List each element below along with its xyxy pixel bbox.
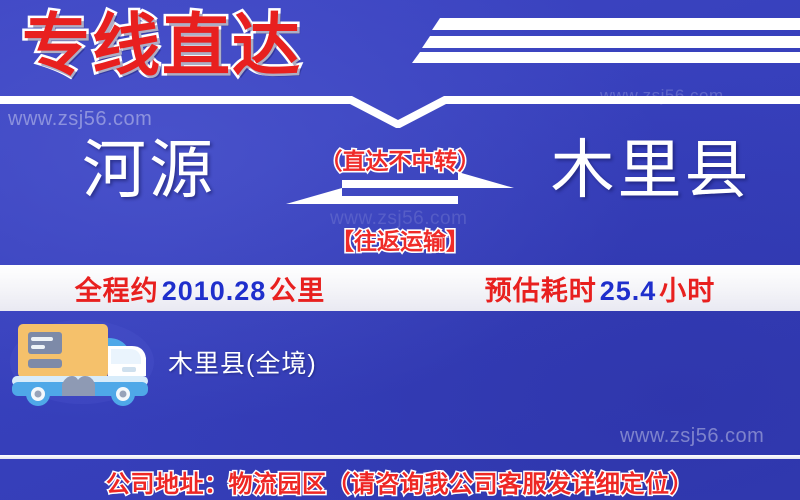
delivery-truck-icon <box>4 316 160 408</box>
destination-city: 木里县 <box>506 134 796 208</box>
coverage-row: 木里县(全境) <box>0 316 800 408</box>
route-note-top: （直达不中转） <box>282 142 518 176</box>
route-note-bottom: 【往返运输】 <box>282 222 518 256</box>
footer-divider <box>0 455 800 459</box>
origin-city: 河源 <box>4 134 294 208</box>
speed-stripes-icon <box>380 0 800 100</box>
distance-value: 2010.28 <box>159 276 270 306</box>
double-arrow-icon <box>282 172 518 220</box>
route-info-bar: 全程约2010.28公里 预估耗时25.4小时 <box>0 265 800 311</box>
coverage-label: 木里县(全境) <box>168 344 317 380</box>
watermark-bottom-right: www.zsj56.com <box>620 425 764 448</box>
logistics-route-poster: 专线直达 www.zsj56.com www.zsj56.com www.zsj… <box>0 0 800 500</box>
watermark-top-right: www.zsj56.com <box>600 86 724 106</box>
page-title: 专线直达 <box>22 4 302 89</box>
distance-info: 全程约2010.28公里 <box>0 269 400 308</box>
duration-value: 25.4 <box>597 276 660 306</box>
distance-prefix: 全程约 <box>75 276 159 306</box>
duration-info: 预估耗时25.4小时 <box>400 269 800 308</box>
header-band: 专线直达 <box>0 0 800 96</box>
distance-unit: 公里 <box>269 276 325 306</box>
company-address-text: 公司地址：物流园区（请咨询我公司客服发详细定位） <box>0 464 800 499</box>
footer-bar: 公司地址：物流园区（请咨询我公司客服发详细定位） <box>0 462 800 500</box>
route-middle: （直达不中转） 【往返运输】 <box>282 128 518 256</box>
duration-prefix: 预估耗时 <box>485 276 597 306</box>
duration-unit: 小时 <box>659 276 715 306</box>
route-row: 河源 （直达不中转） 【往返运输】 木里县 <box>0 128 800 258</box>
